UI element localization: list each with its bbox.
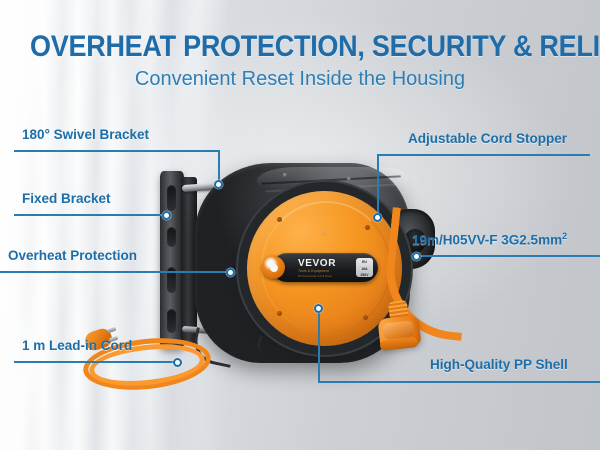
rating-line-3: 250V	[356, 273, 373, 278]
callout-rule-lead-in-cord	[14, 361, 177, 363]
callout-dot-pp-shell	[314, 304, 323, 313]
callout-rule-overheat-protection	[0, 271, 228, 273]
rating-line-1: EU	[356, 260, 373, 265]
callout-label-lead-in-cord: 1 m Lead-in Cord	[22, 339, 132, 353]
callout-lead-cord-stopper	[377, 154, 379, 217]
brand-tagline: Tools & Equipment	[298, 269, 329, 273]
brand-name: VEVOR	[298, 258, 336, 269]
callout-lead-pp-shell	[318, 307, 320, 382]
callout-dot-swivel-bracket	[214, 180, 223, 189]
drum-cord-stub	[253, 336, 283, 362]
rating-line-2: 16A	[356, 267, 373, 272]
callout-label-fixed-bracket: Fixed Bracket	[22, 192, 111, 206]
callout-label-overheat-protection: Overheat Protection	[8, 249, 137, 263]
cable-spec-superscript: 2	[562, 231, 567, 241]
callout-label-cable-spec: 19m/H05VV-F 3G2.5mm2	[412, 232, 567, 247]
page-title: OVERHEAT PROTECTION, SECURITY & RELIABLE	[30, 30, 570, 64]
callout-dot-overheat-protection	[226, 268, 235, 277]
callout-dot-cord-stopper	[373, 213, 382, 222]
callout-dot-fixed-bracket	[162, 211, 171, 220]
rating-plate: EU 16A 250V	[356, 258, 373, 277]
reset-button[interactable]	[262, 256, 285, 279]
callout-dot-cable-spec	[412, 252, 421, 261]
page-subtitle: Convenient Reset Inside the Housing	[0, 68, 600, 91]
callout-label-cord-stopper: Adjustable Cord Stopper	[408, 132, 567, 146]
callout-rule-cable-spec	[417, 255, 600, 257]
callout-dot-lead-in-cord	[173, 358, 182, 367]
callout-label-swivel-bracket: 180° Swivel Bracket	[22, 128, 149, 142]
orange-socket	[377, 301, 421, 357]
callout-label-pp-shell: High-Quality PP Shell	[430, 358, 568, 372]
infographic-canvas: OVERHEAT PROTECTION, SECURITY & RELIABLE…	[0, 0, 600, 450]
cable-spec-text: 19m/H05VV-F 3G2.5mm	[412, 233, 562, 248]
vevor-badge: VEVOR Tools & Equipment Professional Cor…	[272, 253, 378, 282]
callout-rule-fixed-bracket	[14, 214, 166, 216]
callout-rule-pp-shell	[318, 381, 600, 383]
brand-subline: Professional Cord Reel	[298, 274, 332, 278]
callout-rule-cord-stopper	[377, 154, 590, 156]
callout-rule-swivel-bracket	[14, 150, 219, 152]
